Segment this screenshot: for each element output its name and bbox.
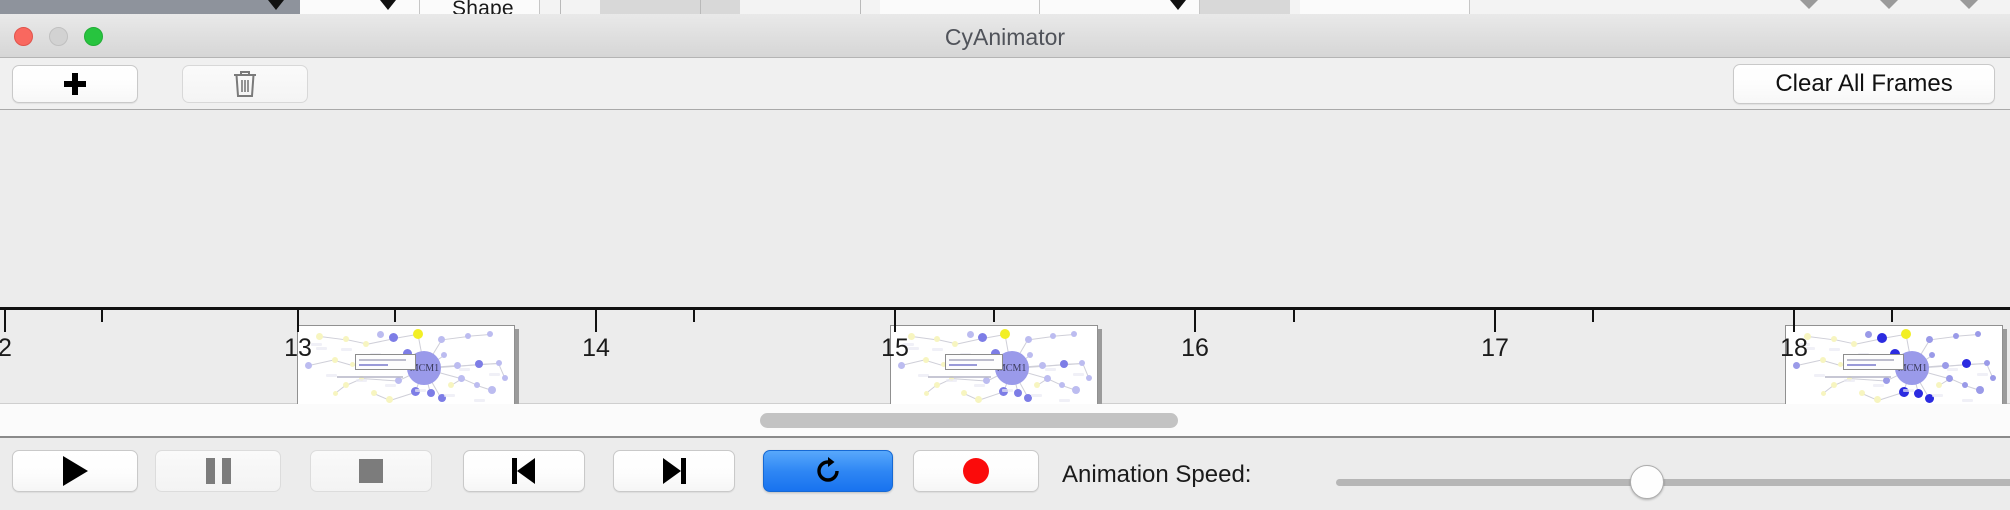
- graph-node-label: [918, 374, 929, 377]
- background-marker: [1800, 0, 1818, 9]
- background-marker: [1170, 0, 1186, 10]
- previous-frame-button[interactable]: [463, 450, 585, 492]
- plus-icon: [63, 72, 87, 96]
- animation-speed-slider[interactable]: [1336, 479, 2010, 486]
- timeline-panel[interactable]: MCM1MCM1MCM1 Seconds 2131415161718: [0, 110, 2010, 404]
- timeline-axis: [0, 307, 2010, 310]
- stop-button[interactable]: [310, 450, 432, 492]
- graph-node: [967, 331, 974, 338]
- axis-tick-label: 2: [0, 334, 12, 363]
- background-window-strip: Shape: [0, 0, 2010, 14]
- graph-node-label: [489, 373, 500, 376]
- graph-node-label: [1844, 379, 1855, 382]
- axis-tick: [1793, 310, 1795, 332]
- axis-tick-label: 17: [1481, 334, 1509, 363]
- graph-node: [496, 360, 502, 366]
- graph-node-label: [974, 384, 985, 387]
- graph-edge: [1849, 378, 1886, 382]
- background-divider: [560, 0, 561, 14]
- pause-icon: [206, 458, 231, 484]
- graph-tooltip-text: [1847, 364, 1877, 366]
- animation-speed-slider-thumb[interactable]: [1630, 465, 1664, 499]
- record-icon: [963, 458, 989, 484]
- axis-tick: [1494, 310, 1496, 332]
- next-frame-button[interactable]: [613, 450, 735, 492]
- graph-node: [363, 341, 369, 347]
- skip-forward-icon: [660, 458, 688, 484]
- graph-node: [305, 362, 312, 369]
- graph-node: [923, 357, 929, 363]
- background-cell: [880, 0, 1040, 14]
- background-window-label: Shape: [452, 0, 514, 14]
- axis-tick: [1891, 310, 1893, 322]
- graph-node: [1865, 331, 1872, 338]
- graph-node: [1072, 386, 1080, 394]
- playback-controls: Animation Speed:: [0, 438, 2010, 510]
- background-cell: [300, 0, 420, 14]
- graph-node: [1962, 359, 1971, 368]
- graph-node: [1877, 333, 1887, 343]
- graph-node-label: [1947, 368, 1958, 371]
- graph-node: [488, 386, 496, 394]
- frame-thumbnail-3[interactable]: MCM1: [1785, 325, 2003, 409]
- axis-tick: [1194, 310, 1196, 332]
- graph-tooltip: [945, 354, 1003, 370]
- frame-thumbnail-2[interactable]: MCM1: [890, 325, 1098, 409]
- graph-node: [474, 382, 480, 388]
- graph-node: [1079, 360, 1085, 366]
- graph-node-label: [1977, 373, 1988, 376]
- graph-node: [389, 333, 398, 342]
- graph-node-label: [385, 384, 396, 387]
- play-button[interactable]: [12, 450, 138, 492]
- graph-node: [908, 333, 915, 340]
- axis-tick: [993, 310, 995, 322]
- graph-node-label: [415, 389, 426, 392]
- graph-node-label: [946, 379, 957, 382]
- graph-node: [1044, 375, 1051, 382]
- graph-node: [465, 333, 471, 339]
- graph-node: [1874, 396, 1881, 403]
- background-divider: [700, 0, 701, 14]
- network-graph: MCM1: [298, 326, 514, 408]
- graph-node: [934, 382, 940, 388]
- background-block: [1200, 0, 1290, 14]
- axis-tick-label: 13: [284, 334, 312, 363]
- graph-node: [1831, 336, 1837, 342]
- graph-node: [438, 336, 445, 343]
- graph-caption-text: [928, 376, 990, 378]
- graph-node: [1831, 382, 1837, 388]
- title-bar: CyAnimator: [0, 14, 2010, 58]
- graph-node-label: [1903, 389, 1914, 392]
- graph-node-label: [1045, 368, 1056, 371]
- axis-tick: [1293, 310, 1295, 322]
- timeline-scrollbar-thumb[interactable]: [760, 413, 1178, 428]
- graph-node: [1946, 375, 1953, 382]
- graph-node: [332, 357, 338, 363]
- graph-node: [1990, 375, 1996, 381]
- graph-node: [1071, 331, 1077, 337]
- graph-node: [1929, 352, 1935, 358]
- loop-button[interactable]: [763, 450, 893, 492]
- graph-node: [377, 331, 384, 338]
- graph-node: [343, 336, 349, 342]
- graph-node-label: [316, 347, 327, 350]
- frames-area[interactable]: MCM1MCM1MCM1: [0, 110, 2010, 307]
- background-marker: [1960, 0, 1978, 9]
- graph-node: [487, 331, 493, 337]
- graph-node: [1914, 389, 1923, 398]
- graph-node: [924, 391, 929, 396]
- window-title: CyAnimator: [0, 24, 2010, 51]
- axis-tick-label: 14: [582, 334, 610, 363]
- axis-tick: [1592, 310, 1594, 322]
- graph-node-label: [341, 348, 352, 351]
- graph-node: [1014, 389, 1022, 397]
- graph-node-label: [1873, 384, 1884, 387]
- graph-tooltip-text: [949, 364, 977, 366]
- graph-node: [333, 391, 338, 396]
- add-frame-button[interactable]: [12, 65, 138, 103]
- graph-node-label: [474, 399, 485, 402]
- graph-node-label: [908, 347, 919, 350]
- axis-tick-label: 15: [881, 334, 909, 363]
- animation-speed-label: Animation Speed:: [1062, 461, 1251, 489]
- graph-node: [1025, 336, 1032, 343]
- graph-tooltip-text: [1847, 359, 1894, 361]
- graph-node: [978, 333, 987, 342]
- graph-node: [1821, 391, 1826, 396]
- trash-icon: [232, 69, 258, 99]
- graph-tooltip-text: [949, 359, 994, 361]
- background-block: [600, 0, 740, 14]
- graph-node-label: [311, 343, 322, 346]
- axis-tick: [394, 310, 396, 322]
- graph-node-label: [932, 348, 943, 351]
- record-button[interactable]: [913, 450, 1039, 492]
- graph-edge: [361, 378, 398, 382]
- graph-node: [1000, 329, 1010, 339]
- graph-node: [1086, 375, 1092, 381]
- graph-node: [427, 389, 435, 397]
- graph-node-label: [1814, 374, 1825, 377]
- graph-node-label: [326, 374, 337, 377]
- graph-node: [934, 336, 940, 342]
- clear-all-frames-button[interactable]: Clear All Frames: [1733, 64, 1995, 104]
- axis-tick: [595, 310, 597, 332]
- axis-tick: [101, 310, 103, 322]
- graph-node: [343, 382, 349, 388]
- graph-node: [1820, 357, 1826, 363]
- axis-tick-label: 18: [1780, 334, 1808, 363]
- background-cell: [1300, 0, 1470, 14]
- graph-node-label: [1031, 394, 1042, 397]
- background-marker: [268, 0, 284, 10]
- play-icon: [63, 456, 88, 486]
- loop-icon: [813, 456, 843, 486]
- graph-node: [1962, 382, 1968, 388]
- graph-node: [1953, 333, 1959, 339]
- graph-node: [961, 390, 967, 396]
- graph-node-label: [1962, 399, 1973, 402]
- graph-node-label: [1829, 348, 1840, 351]
- background-titlebar: [0, 0, 300, 14]
- graph-node: [1984, 360, 1990, 366]
- graph-node: [1901, 329, 1911, 339]
- graph-node-label: [444, 394, 455, 397]
- graph-node: [413, 329, 423, 339]
- graph-node-label: [1073, 373, 1084, 376]
- graph-tooltip: [355, 354, 416, 370]
- graph-node: [898, 362, 905, 369]
- graph-node-label: [356, 379, 367, 382]
- graph-tooltip-text: [359, 364, 389, 366]
- delete-frame-button[interactable]: [182, 65, 308, 103]
- graph-node: [1793, 362, 1800, 369]
- graph-node: [1027, 352, 1033, 358]
- graph-tooltip: [1843, 354, 1904, 370]
- graph-node: [1059, 382, 1065, 388]
- graph-node: [475, 360, 483, 368]
- graph-node: [441, 352, 447, 358]
- axis-tick: [297, 310, 299, 332]
- background-divider: [860, 0, 861, 14]
- axis-tick-label: 16: [1181, 334, 1209, 363]
- axis-tick: [4, 310, 6, 332]
- cyanimator-window: Shape CyAnimator: [0, 0, 2010, 510]
- network-graph: MCM1: [891, 326, 1097, 408]
- graph-node: [1034, 382, 1040, 388]
- graph-node: [1975, 331, 1981, 337]
- graph-node: [975, 396, 982, 403]
- graph-node: [386, 396, 393, 403]
- graph-node: [316, 333, 323, 340]
- axis-tick: [894, 310, 896, 332]
- background-marker: [380, 0, 396, 10]
- graph-caption-text: [1825, 376, 1890, 378]
- background-marker: [1880, 0, 1898, 9]
- graph-node: [1851, 341, 1857, 347]
- graph-node: [458, 375, 465, 382]
- skip-backward-icon: [510, 458, 538, 484]
- graph-node: [1926, 336, 1933, 343]
- graph-node-label: [1059, 399, 1070, 402]
- network-graph: MCM1: [1786, 326, 2002, 408]
- graph-node: [1050, 333, 1056, 339]
- graph-node: [502, 375, 508, 381]
- graph-node: [1936, 382, 1942, 388]
- graph-node: [952, 341, 958, 347]
- pause-button[interactable]: [155, 450, 281, 492]
- timeline-scrollbar[interactable]: [0, 404, 2010, 438]
- graph-node: [448, 382, 454, 388]
- axis-tick: [693, 310, 695, 322]
- graph-node: [1060, 360, 1068, 368]
- stop-icon: [359, 459, 383, 483]
- frame-thumbnail-1[interactable]: MCM1: [297, 325, 515, 409]
- graph-node-label: [1002, 389, 1013, 392]
- graph-tooltip-text: [359, 359, 406, 361]
- graph-node: [1976, 386, 1984, 394]
- graph-node-label: [1932, 394, 1943, 397]
- graph-caption-text: [337, 376, 402, 378]
- graph-node-label: [459, 368, 470, 371]
- toolbar: Clear All Frames: [0, 58, 2010, 110]
